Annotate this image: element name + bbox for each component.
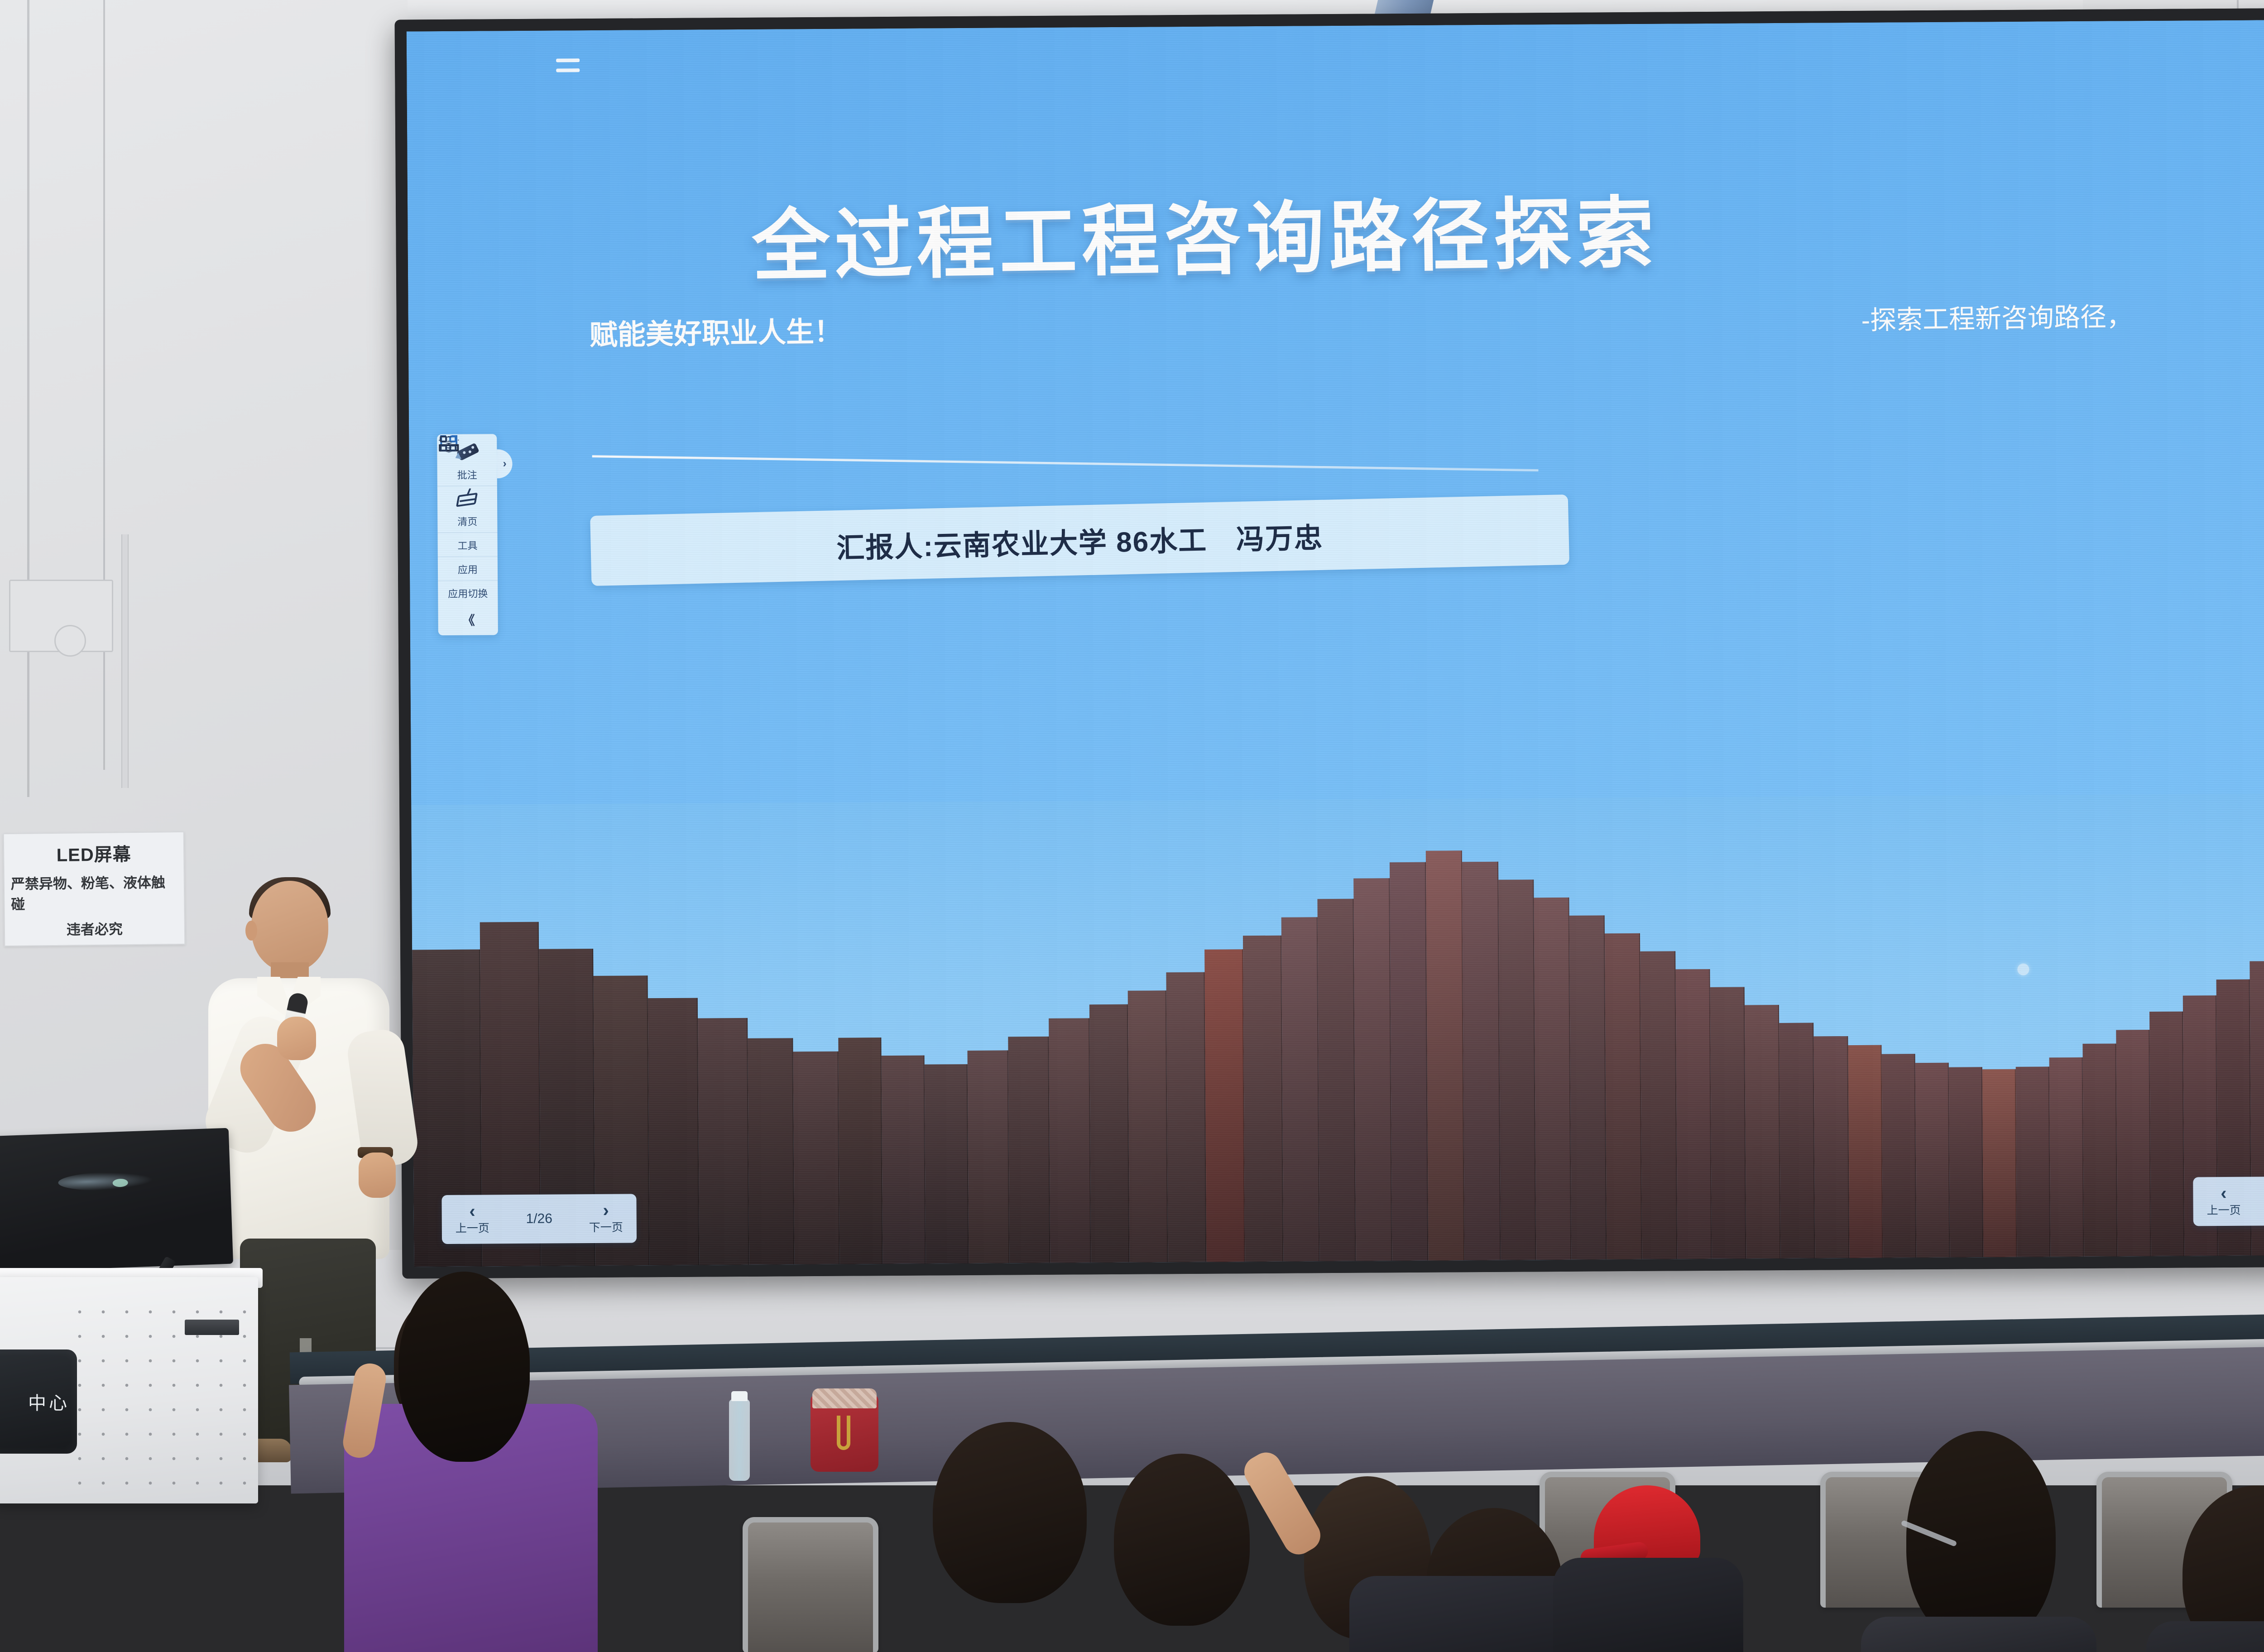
toolbar-label-tools: 工具 (458, 538, 478, 552)
warning-sign-line-1: 严禁异物、粉笔、液体触碰 (11, 871, 178, 913)
layers-switch-icon (438, 436, 459, 452)
toolbar-label-apps: 应用 (458, 562, 478, 576)
toolbar-item-app-switch[interactable]: 应用切换 (438, 580, 498, 605)
warning-sign-line-2: 违者必究 (67, 917, 123, 938)
bottle-cap (731, 1391, 748, 1401)
wall-knob (54, 625, 86, 657)
audience-member-body (1861, 1617, 2096, 1652)
audience-member-body (2146, 1621, 2264, 1652)
monitor-glare (58, 1171, 153, 1192)
slide-subtitle-right: -探索工程新咨询路径， (1861, 295, 2133, 337)
audience-member-head (1906, 1431, 2056, 1644)
chevron-left-icon: ‹ (2221, 1185, 2227, 1201)
chevron-left-icon: ‹ (469, 1203, 475, 1219)
audience-member-long-hair (398, 1272, 530, 1462)
page-navigation-left[interactable]: ‹ 上一页 1/26 › 下一页 (441, 1194, 637, 1244)
presenter-info-box: 汇报人:云南农业大学 86水工 冯万忠 (590, 495, 1569, 586)
presenter-head (251, 881, 328, 971)
toolbar-collapse-left[interactable]: 《 (462, 605, 474, 629)
slide-building-photo (411, 793, 2264, 1267)
prev-page-label: 上一页 (2207, 1201, 2241, 1217)
wall-seam (27, 0, 29, 797)
handbag (811, 1395, 878, 1472)
photo-building-fins (411, 793, 2264, 1267)
wall-conduit (121, 534, 129, 788)
page-counter: 1/26 (526, 1211, 552, 1227)
led-screen-warning-sign: LED屏幕 严禁异物、粉笔、液体触碰 违者必究 (3, 831, 186, 946)
presenter-ear (245, 921, 257, 941)
audience-seating (0, 1259, 2264, 1652)
presenter-hand (277, 1017, 316, 1060)
chair (743, 1517, 878, 1652)
prev-page-label: 上一页 (456, 1219, 489, 1235)
audience-member-body (1553, 1558, 1743, 1652)
hamburger-icon[interactable] (556, 58, 580, 72)
water-bottle (729, 1399, 750, 1481)
slide-title: 全过程工程咨询路径探索 (751, 169, 1659, 296)
slide-canvas[interactable]: 全过程工程咨询路径探索 赋能美好职业人生！ -探索工程新咨询路径， 汇报人:云南… (407, 19, 2264, 1267)
led-display-screen[interactable]: 全过程工程咨询路径探索 赋能美好职业人生！ -探索工程新咨询路径， 汇报人:云南… (395, 7, 2264, 1278)
next-page-label: 下一页 (589, 1218, 623, 1234)
prev-page-button[interactable]: ‹ 上一页 (456, 1203, 489, 1235)
mouse-cursor (2017, 964, 2029, 975)
presenter-info-text: 汇报人:云南农业大学 86水工 冯万忠 (836, 514, 1324, 566)
handbag-clasp (837, 1416, 850, 1450)
presenter-right-hand (359, 1153, 396, 1198)
handbag-flap (812, 1388, 877, 1408)
toolbar-expand-tab-left[interactable]: › (497, 449, 512, 478)
podium-monitor[interactable] (0, 1128, 233, 1273)
chevron-right-icon: › (603, 1202, 609, 1218)
slide-tagline: 赋能美好职业人生！ (589, 308, 842, 353)
toolbar-item-tools[interactable]: 工具 (437, 532, 497, 557)
broom-clear-page-icon (456, 491, 479, 511)
lecture-hall-room: LED屏幕 严禁异物、粉笔、液体触碰 违者必究 (0, 0, 2264, 1652)
audience-member-head (1114, 1454, 1250, 1626)
toolbar-item-apps[interactable]: 应用 (438, 556, 498, 581)
toolbar-label-annotate: 批注 (457, 467, 477, 482)
toolbar-label-clear-page: 清页 (457, 514, 477, 528)
annotation-toolbar-left[interactable]: › 批注 清页 工具 (437, 434, 498, 635)
prev-page-button[interactable]: ‹ 上一页 (2206, 1185, 2240, 1217)
slide-divider-line (592, 455, 1539, 471)
toolbar-item-clear-page[interactable]: 清页 (437, 485, 498, 533)
warning-sign-title: LED屏幕 (56, 840, 131, 867)
wall-seam (103, 0, 105, 770)
next-page-button[interactable]: › 下一页 (589, 1202, 623, 1234)
page-navigation-right[interactable]: ‹ 上一页 1/26 › 下一页 (2193, 1176, 2264, 1226)
toolbar-label-app-switch: 应用切换 (448, 586, 488, 600)
audience-member-head (933, 1422, 1087, 1603)
